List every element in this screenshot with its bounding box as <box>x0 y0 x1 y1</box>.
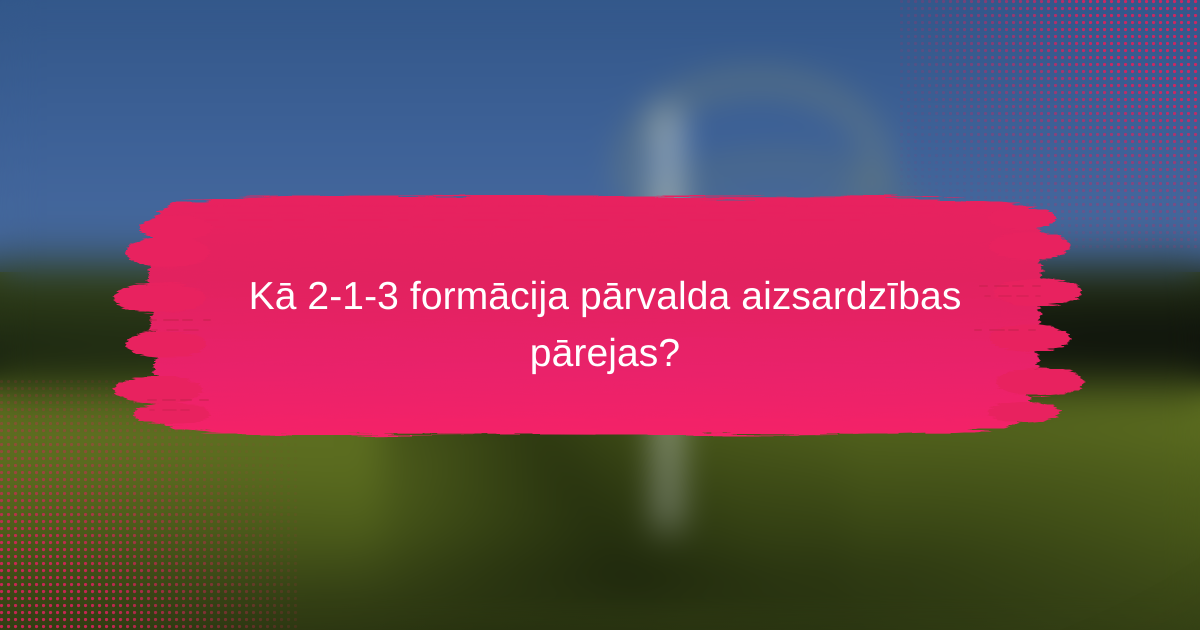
social-card: Kā 2-1-3 formācija pārvalda aizsardzības… <box>0 0 1200 630</box>
headline-banner: Kā 2-1-3 formācija pārvalda aizsardzības… <box>0 0 1200 630</box>
page-title: Kā 2-1-3 formācija pārvalda aizsardzības… <box>210 268 1000 382</box>
